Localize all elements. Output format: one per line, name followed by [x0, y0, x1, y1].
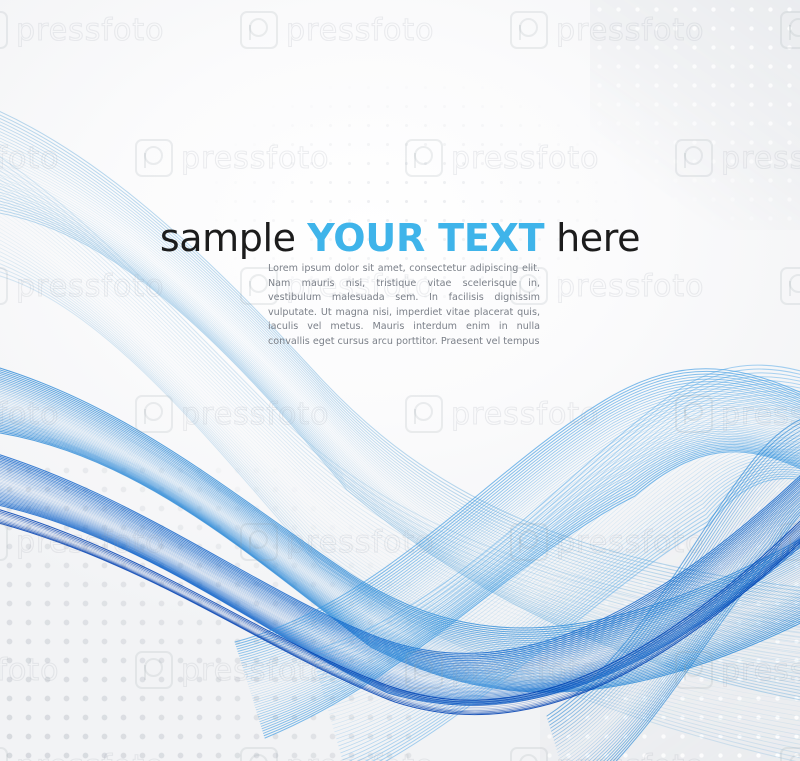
body-paragraph: Lorem ipsum dolor sit amet, consectetur … [268, 262, 540, 350]
blue-wave-graphic [0, 0, 800, 761]
poster-canvas: pressfotopressfotopressfotopressfotopres… [0, 0, 800, 761]
headline-part-3: here [544, 216, 640, 260]
right-upper-ribbon [311, 365, 800, 761]
headline-accent: YOUR TEXT [307, 216, 544, 260]
page-title: sample YOUR TEXT here [0, 216, 800, 260]
headline-part-1: sample [160, 216, 307, 260]
